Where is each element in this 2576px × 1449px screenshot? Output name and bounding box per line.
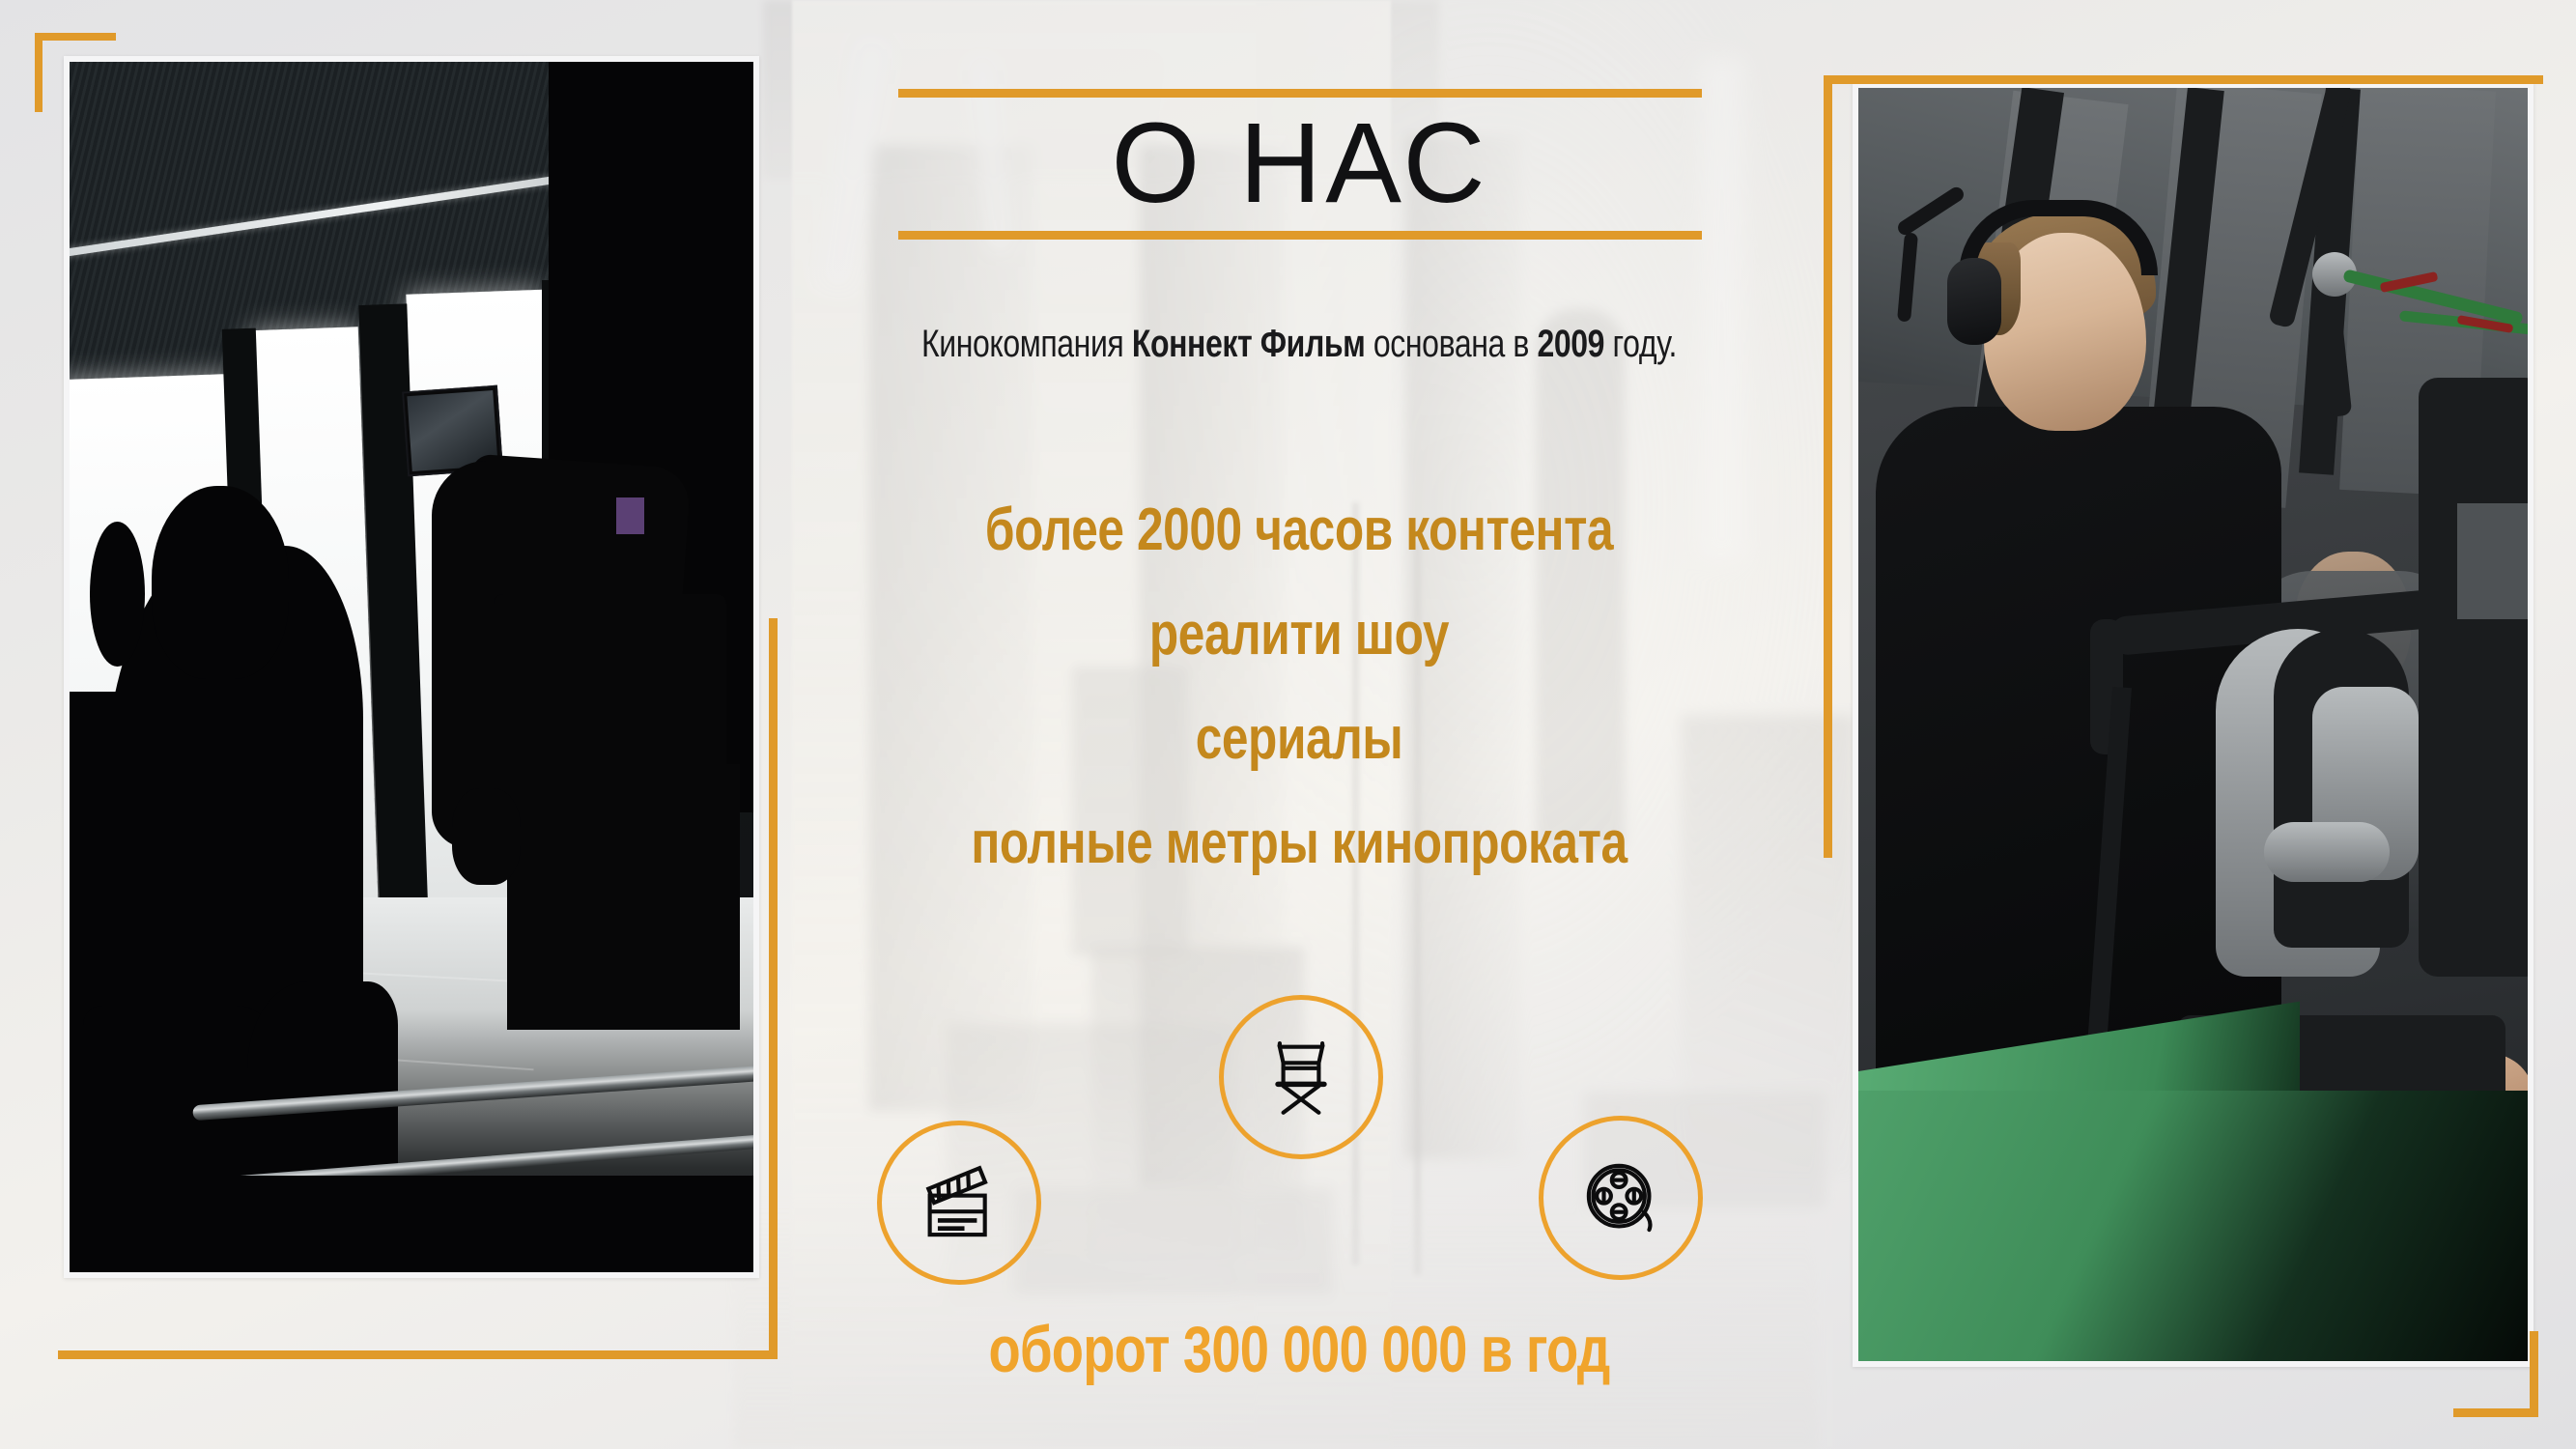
title-rule-bottom: [898, 231, 1702, 240]
clapperboard-icon: [877, 1121, 1041, 1285]
title-block: О НАС: [898, 89, 1702, 240]
bracket-bottom-right-vertical: [2530, 1331, 2538, 1417]
director-chair-icon: [1219, 995, 1383, 1159]
page-title: О НАС: [898, 98, 1702, 231]
bracket-top-right-horizontal: [1824, 75, 2543, 84]
subtitle-year: 2009: [1537, 323, 1604, 365]
feature-item: реалити шоу: [801, 605, 1798, 665]
subtitle-part3: году.: [1604, 323, 1677, 365]
film-reel-icon: [1539, 1116, 1703, 1280]
feature-item: полные метры кинопроката: [801, 813, 1798, 873]
photo-right-camera-operator: [1853, 82, 2534, 1367]
photo-left-crew-silhouette: [64, 56, 759, 1278]
bracket-bottom-right-horizontal: [2453, 1408, 2538, 1417]
slide-root: О НАС Кинокомпания Коннект Фильм основан…: [0, 0, 2576, 1449]
subtitle-part2: основана в: [1365, 323, 1537, 365]
subtitle-company: Коннект Фильм: [1132, 323, 1366, 365]
title-rule-top: [898, 89, 1702, 98]
feature-list: более 2000 часов контента реалити шоу се…: [676, 500, 1922, 873]
turnover-text: оборот 300 000 000 в год: [801, 1312, 1798, 1387]
feature-item: более 2000 часов контента: [801, 500, 1798, 560]
bracket-bottom-left-horizontal: [58, 1350, 778, 1359]
feature-item: сериалы: [801, 709, 1798, 769]
subtitle: Кинокомпания Коннект Фильм основана в 20…: [801, 323, 1798, 366]
bracket-top-left-horizontal: [35, 33, 116, 41]
bracket-top-left-vertical: [35, 33, 42, 112]
subtitle-part1: Кинокомпания: [921, 323, 1132, 365]
